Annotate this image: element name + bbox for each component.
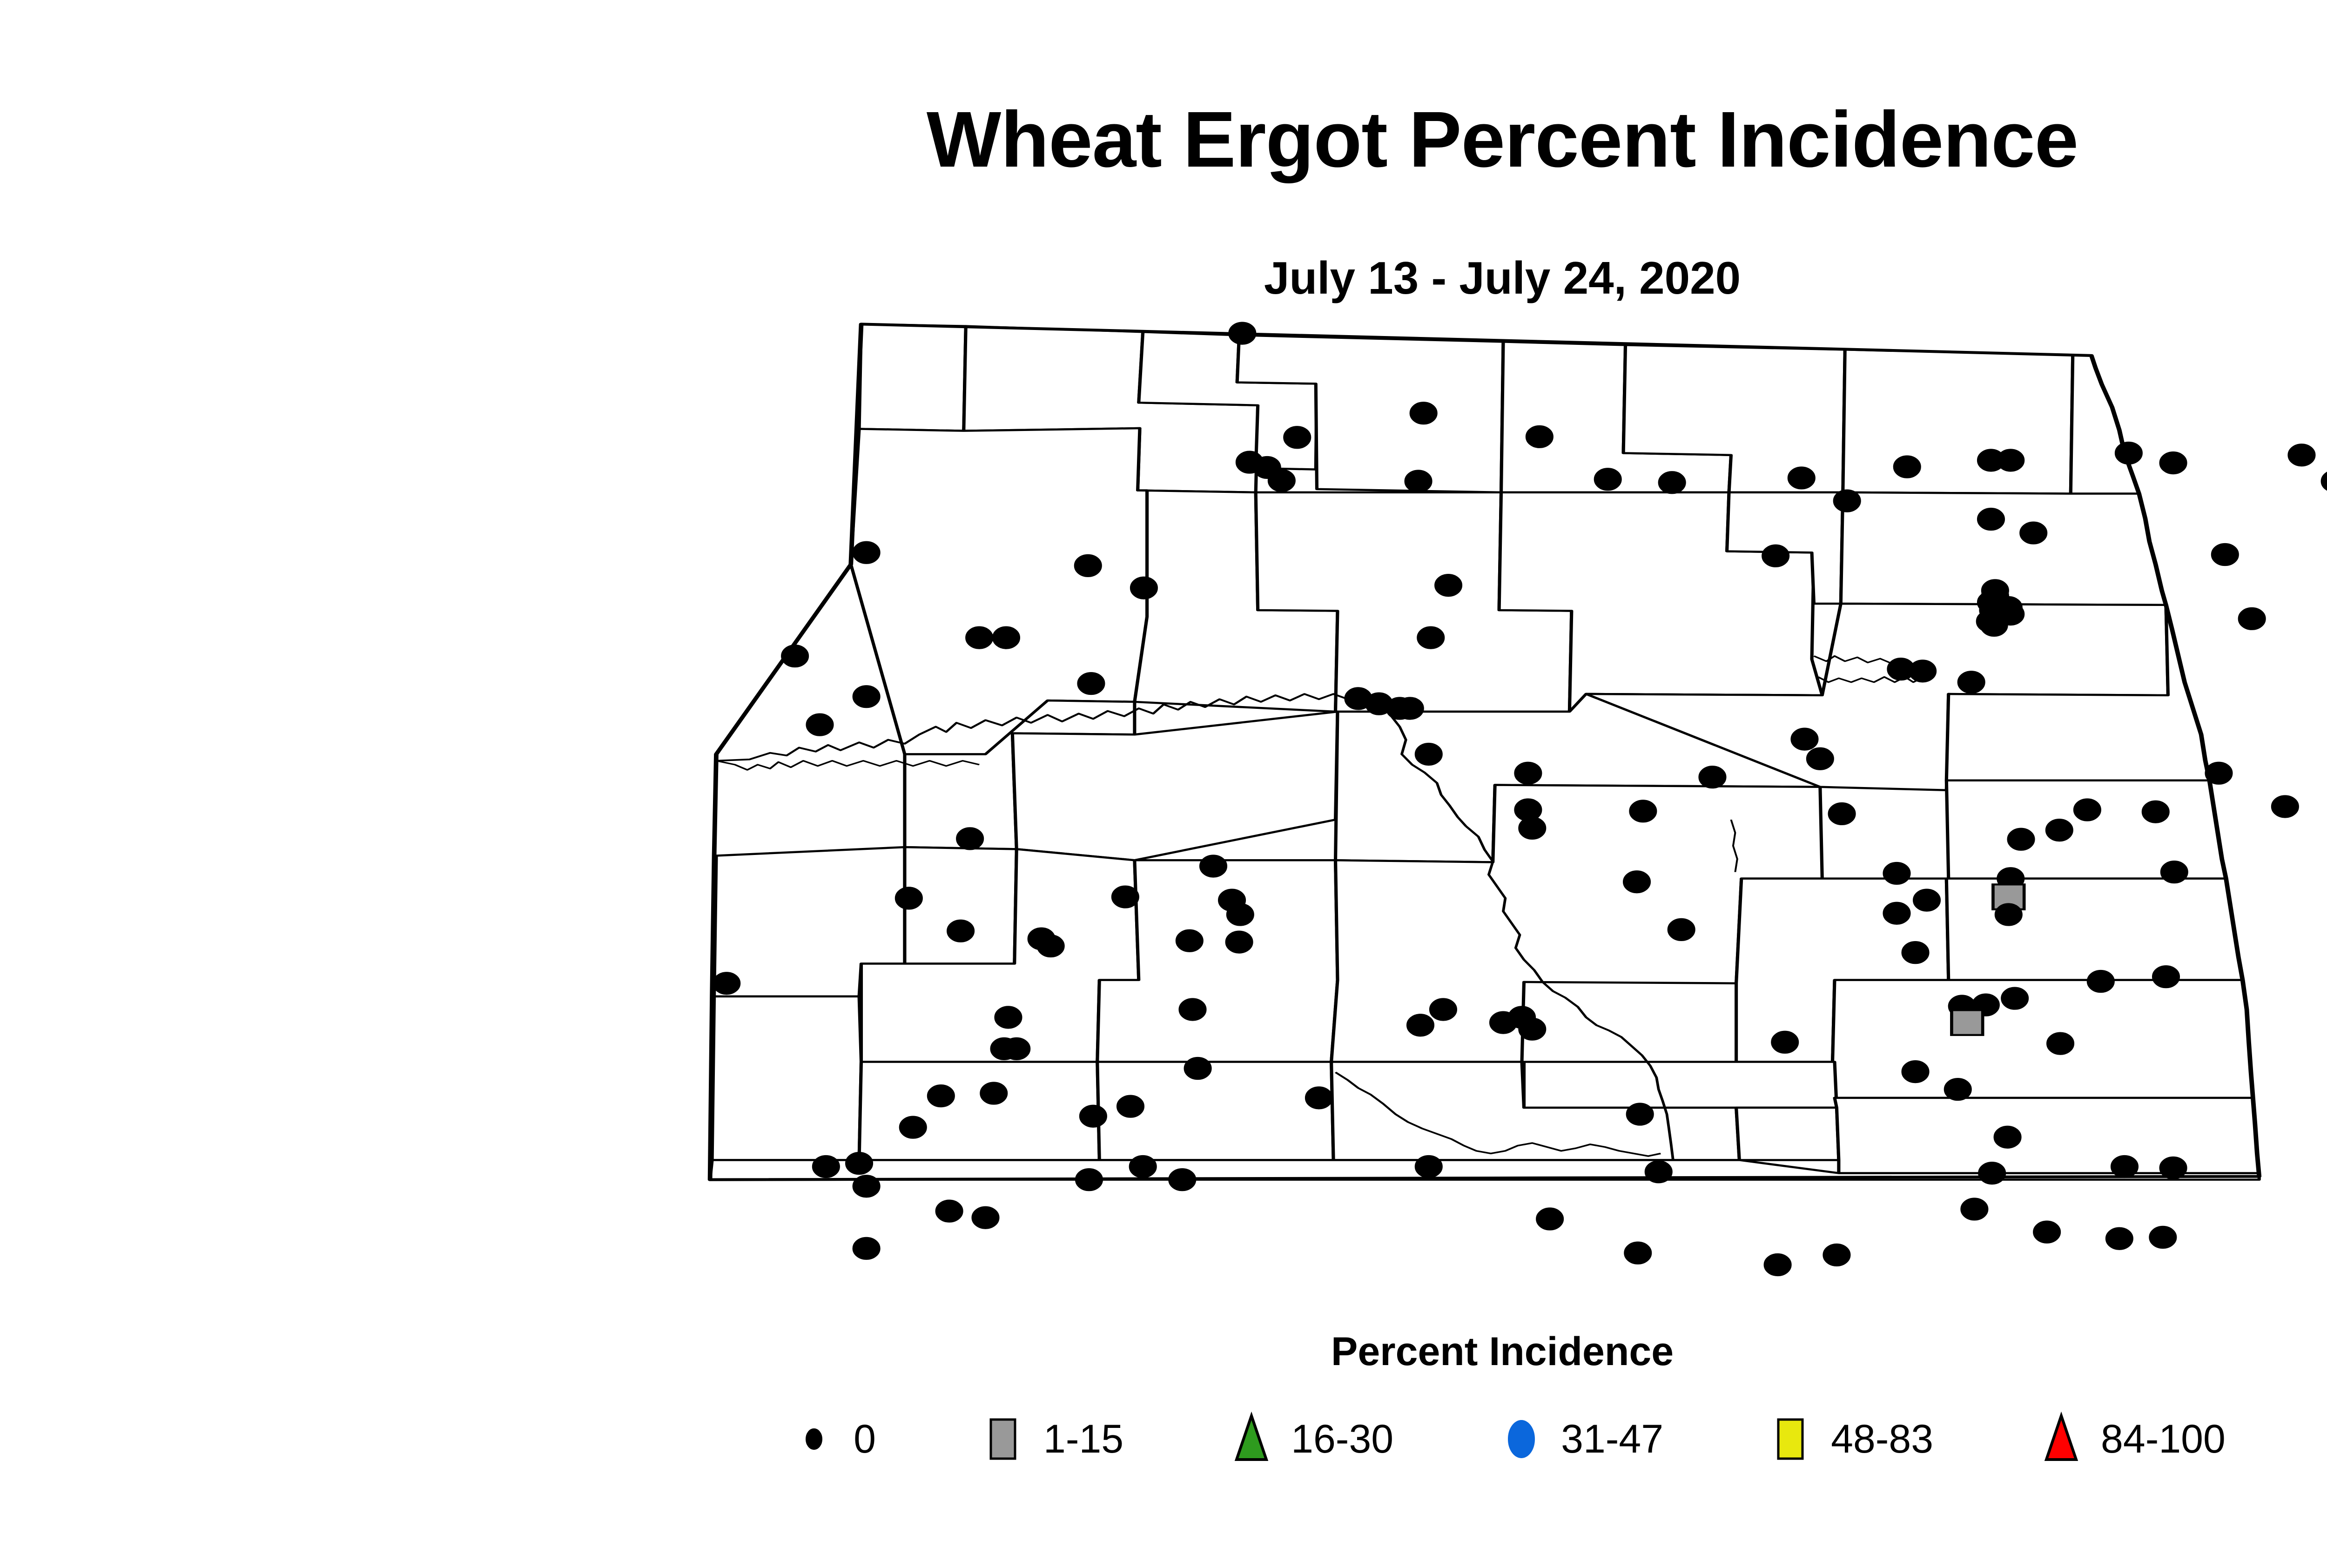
data-point-0 xyxy=(813,1156,840,1178)
data-point-0 xyxy=(846,1152,873,1175)
data-point-0 xyxy=(781,645,808,667)
data-point-0 xyxy=(956,828,983,850)
legend-spacer xyxy=(1393,1439,1486,1440)
data-point-0 xyxy=(980,1082,1007,1104)
data-point-0 xyxy=(1200,855,1227,877)
legend-symbol-triangle-icon xyxy=(2026,1411,2096,1467)
data-point-0 xyxy=(2008,828,2035,850)
data-point-0 xyxy=(1075,554,1102,577)
data-point-0 xyxy=(928,1085,955,1107)
data-point-0 xyxy=(1112,886,1139,908)
data-point-0 xyxy=(2239,607,2266,630)
data-point-0 xyxy=(853,686,880,708)
data-point-0 xyxy=(1902,942,1929,964)
legend-symbol-circle-small-icon xyxy=(779,1411,849,1467)
data-point-0 xyxy=(1958,671,1985,693)
page-title: Wheat Ergot Percent Incidence xyxy=(0,100,2327,179)
data-point-0 xyxy=(1037,935,1064,957)
data-point-0 xyxy=(2020,522,2047,544)
county-sargent xyxy=(1835,1098,2259,1173)
county-dickey xyxy=(1736,1108,1839,1160)
legend-glyph xyxy=(991,1420,1015,1459)
legend-glyph xyxy=(1508,1420,1534,1458)
data-point-0 xyxy=(972,1206,999,1229)
county-billings xyxy=(905,847,1016,963)
legend-glyph xyxy=(1237,1416,1266,1460)
data-point-0 xyxy=(1179,998,1206,1021)
legend-item-1-15[interactable]: 1-15 xyxy=(969,1411,1123,1467)
data-point-0 xyxy=(1117,1095,1144,1117)
legend-symbol-triangle-icon xyxy=(1217,1411,1286,1467)
data-point-0 xyxy=(853,1175,880,1198)
data-point-0 xyxy=(2074,799,2101,821)
county-lamoure xyxy=(1524,1062,1837,1107)
data-point-0 xyxy=(1229,322,1256,344)
data-point-0 xyxy=(1977,610,2004,633)
data-point-0 xyxy=(1913,889,1940,911)
legend-symbol-square-icon xyxy=(969,1411,1039,1467)
data-point-0 xyxy=(1668,918,1695,941)
data-point-0 xyxy=(2087,970,2114,993)
data-point-0 xyxy=(1407,1014,1434,1036)
legend-symbol-square-icon xyxy=(1756,1411,1826,1467)
data-point-0 xyxy=(1176,929,1203,952)
legend-spacer xyxy=(1663,1439,1756,1440)
county-richland xyxy=(1833,980,2253,1098)
north-dakota-county-map xyxy=(675,303,2327,1317)
county-hettinger xyxy=(859,1062,1099,1160)
legend-symbol-circle-icon xyxy=(1486,1411,1556,1467)
data-point-0 xyxy=(1397,697,1424,720)
data-point-0 xyxy=(993,626,1020,649)
data-point-0 xyxy=(1883,862,1910,885)
data-point-0 xyxy=(853,1237,880,1259)
data-point-0 xyxy=(1764,1254,1791,1276)
county-traill xyxy=(1946,879,2242,980)
data-point-0 xyxy=(2212,544,2239,566)
data-point-0 xyxy=(995,1006,1022,1029)
data-point-0 xyxy=(1834,490,1861,512)
data-point-0 xyxy=(1435,574,1462,597)
data-point-0 xyxy=(1629,800,1656,822)
data-point-0 xyxy=(2115,442,2142,464)
data-point-0 xyxy=(807,713,834,736)
data-point-0 xyxy=(1410,402,1437,424)
data-point-0 xyxy=(1227,903,1254,926)
county-cass xyxy=(1946,781,2226,879)
data-point-0 xyxy=(1405,470,1432,492)
data-point-0 xyxy=(1699,766,1726,788)
data-point-0 xyxy=(1284,426,1311,449)
data-point-0 xyxy=(1762,545,1789,567)
data-point-0 xyxy=(853,541,880,564)
data-point-0 xyxy=(1417,626,1444,649)
data-point-0 xyxy=(1169,1169,1196,1191)
legend-items: 01-1516-3031-4748-8384-100 xyxy=(0,1411,2327,1467)
data-point-0 xyxy=(1415,1156,1442,1178)
data-point-0 xyxy=(2047,1032,2074,1055)
data-point-0 xyxy=(1519,1018,1546,1040)
data-point-0 xyxy=(1268,470,1295,492)
data-point-0 xyxy=(2046,819,2073,841)
legend-item-16-30[interactable]: 16-30 xyxy=(1217,1411,1393,1467)
data-point-0 xyxy=(1184,1057,1211,1080)
legend-item-label: 31-47 xyxy=(1561,1416,1663,1462)
data-point-0 xyxy=(1526,425,1553,448)
data-point-0 xyxy=(1823,1244,1850,1266)
data-point-0 xyxy=(1623,871,1650,893)
data-point-0 xyxy=(2001,987,2028,1009)
data-point-0 xyxy=(1829,803,1856,825)
data-point-0 xyxy=(1627,1103,1654,1125)
data-point-1-15 xyxy=(1951,1010,1983,1035)
legend-item-label: 16-30 xyxy=(1291,1416,1393,1462)
data-point-0 xyxy=(1771,1031,1798,1053)
data-point-0 xyxy=(2106,1227,2133,1250)
legend-glyph xyxy=(2046,1416,2076,1460)
data-point-0 xyxy=(713,972,740,995)
data-point-0 xyxy=(947,920,974,942)
data-point-0 xyxy=(1894,456,1921,478)
legend-item-31-47[interactable]: 31-47 xyxy=(1486,1411,1663,1467)
legend-item-label: 84-100 xyxy=(2101,1416,2226,1462)
county-divide xyxy=(859,324,966,431)
data-point-0 xyxy=(1305,1087,1332,1109)
data-point-0 xyxy=(1536,1208,1563,1230)
data-point-0 xyxy=(2160,452,2187,474)
legend-item-48-83[interactable]: 48-83 xyxy=(1756,1411,1933,1467)
data-point-0 xyxy=(1994,1126,2021,1148)
county-polygons xyxy=(710,324,2260,1179)
data-point-0 xyxy=(1003,1037,1030,1060)
data-point-0 xyxy=(1944,1078,1971,1101)
data-point-0 xyxy=(2160,1157,2187,1179)
data-point-0 xyxy=(1788,467,1815,489)
data-point-0 xyxy=(2142,801,2169,823)
data-point-0 xyxy=(1076,1169,1103,1191)
legend-item-label: 0 xyxy=(854,1416,876,1462)
county-pembina xyxy=(2071,355,2139,494)
data-point-0 xyxy=(2161,861,2188,883)
page-subtitle: July 13 - July 24, 2020 xyxy=(0,255,2327,301)
data-point-0 xyxy=(2272,795,2299,818)
data-point-0 xyxy=(1645,1161,1672,1183)
data-point-0 xyxy=(1977,508,2004,531)
data-point-0 xyxy=(2033,1221,2060,1243)
data-point-0 xyxy=(1807,747,1834,770)
data-point-0 xyxy=(1080,1105,1107,1127)
data-point-0 xyxy=(2288,444,2315,466)
data-point-0 xyxy=(1909,660,1936,682)
data-point-0 xyxy=(1130,577,1157,599)
legend-title: Percent Incidence xyxy=(0,1329,2327,1375)
county-cavalier xyxy=(1843,350,2073,493)
legend-item-84-100[interactable]: 84-100 xyxy=(2026,1411,2226,1467)
legend-spacer xyxy=(1123,1439,1217,1440)
legend-item-label: 48-83 xyxy=(1831,1416,1933,1462)
data-point-0 xyxy=(1226,931,1253,953)
legend-glyph xyxy=(806,1429,822,1449)
legend-spacer xyxy=(876,1439,969,1440)
data-point-0 xyxy=(1978,1162,2005,1184)
data-point-0 xyxy=(1902,1061,1929,1083)
legend-spacer xyxy=(1933,1439,2026,1440)
map-legend: Percent Incidence 01-1516-3031-4748-8384… xyxy=(0,1329,2327,1467)
legend-item-0[interactable]: 0 xyxy=(779,1411,876,1467)
figure-canvas: Wheat Ergot Percent Incidence July 13 - … xyxy=(0,0,2327,1568)
data-point-0 xyxy=(1883,902,1910,924)
data-point-0 xyxy=(2206,762,2233,784)
legend-glyph xyxy=(1778,1420,1802,1459)
data-point-0 xyxy=(1415,743,1442,766)
data-point-0 xyxy=(1514,762,1541,784)
data-point-0 xyxy=(1995,903,2022,926)
data-point-0 xyxy=(1430,998,1457,1021)
data-point-0 xyxy=(936,1200,963,1222)
data-point-0 xyxy=(1624,1242,1651,1264)
data-point-0 xyxy=(2111,1156,2138,1178)
data-point-0 xyxy=(1519,817,1546,839)
data-point-0 xyxy=(2321,470,2327,492)
legend-item-label: 1-15 xyxy=(1043,1416,1123,1462)
data-point-0 xyxy=(2152,966,2179,988)
data-point-0 xyxy=(2149,1226,2176,1249)
map-svg xyxy=(675,303,2327,1317)
data-point-0 xyxy=(1997,449,2024,471)
county-dunn xyxy=(1012,712,1338,860)
data-point-0 xyxy=(966,626,993,649)
data-point-0 xyxy=(1659,471,1686,494)
data-point-0 xyxy=(1130,1156,1157,1178)
data-point-0 xyxy=(895,887,922,909)
data-point-0 xyxy=(900,1116,927,1138)
data-point-0 xyxy=(1078,673,1105,695)
data-point-0 xyxy=(1791,728,1818,750)
county-slope xyxy=(712,996,861,1160)
data-point-0 xyxy=(1961,1198,1988,1220)
data-point-0 xyxy=(1594,468,1621,491)
